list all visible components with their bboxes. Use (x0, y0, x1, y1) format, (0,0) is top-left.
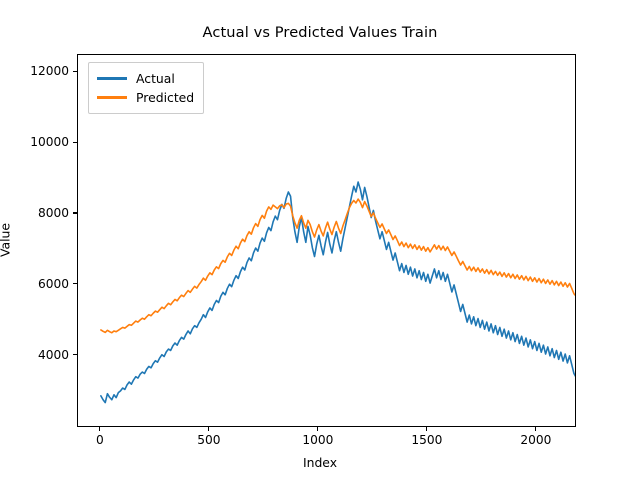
y-axis-label: Value (0, 223, 13, 257)
y-tickmark (73, 354, 77, 355)
legend-label: Actual (136, 71, 175, 86)
legend-swatch-predicted-icon (97, 96, 127, 98)
x-tick-label: 2000 (520, 433, 551, 447)
y-tick-label: 12000 (0, 64, 69, 78)
legend-entry-actual: Actual (97, 69, 194, 88)
series-line-predicted (101, 104, 576, 333)
legend-swatch-actual-icon (97, 77, 127, 79)
legend-entry-predicted: Predicted (97, 88, 194, 107)
x-tickmark (426, 427, 427, 431)
x-axis-label: Index (0, 455, 640, 470)
y-tickmark (73, 212, 77, 213)
x-tickmark (208, 427, 209, 431)
y-tick-label: 4000 (0, 348, 69, 362)
y-tickmark (73, 71, 77, 72)
chart-legend: ActualPredicted (88, 62, 204, 114)
y-tick-label: 6000 (0, 277, 69, 291)
x-tick-label: 0 (96, 433, 104, 447)
y-tickmark (73, 283, 77, 284)
chart-title: Actual vs Predicted Values Train (0, 24, 640, 41)
chart-figure: Actual vs Predicted Values Train 4000600… (0, 0, 640, 480)
y-tickmark (73, 142, 77, 143)
x-tick-label: 1500 (411, 433, 442, 447)
x-tickmark (535, 427, 536, 431)
x-tickmark (99, 427, 100, 431)
x-tick-label: 500 (197, 433, 220, 447)
series-line-actual (101, 78, 576, 403)
x-tickmark (317, 427, 318, 431)
y-tick-label: 8000 (0, 206, 69, 220)
y-tick-label: 10000 (0, 135, 69, 149)
x-tick-label: 1000 (302, 433, 333, 447)
legend-label: Predicted (136, 90, 194, 105)
